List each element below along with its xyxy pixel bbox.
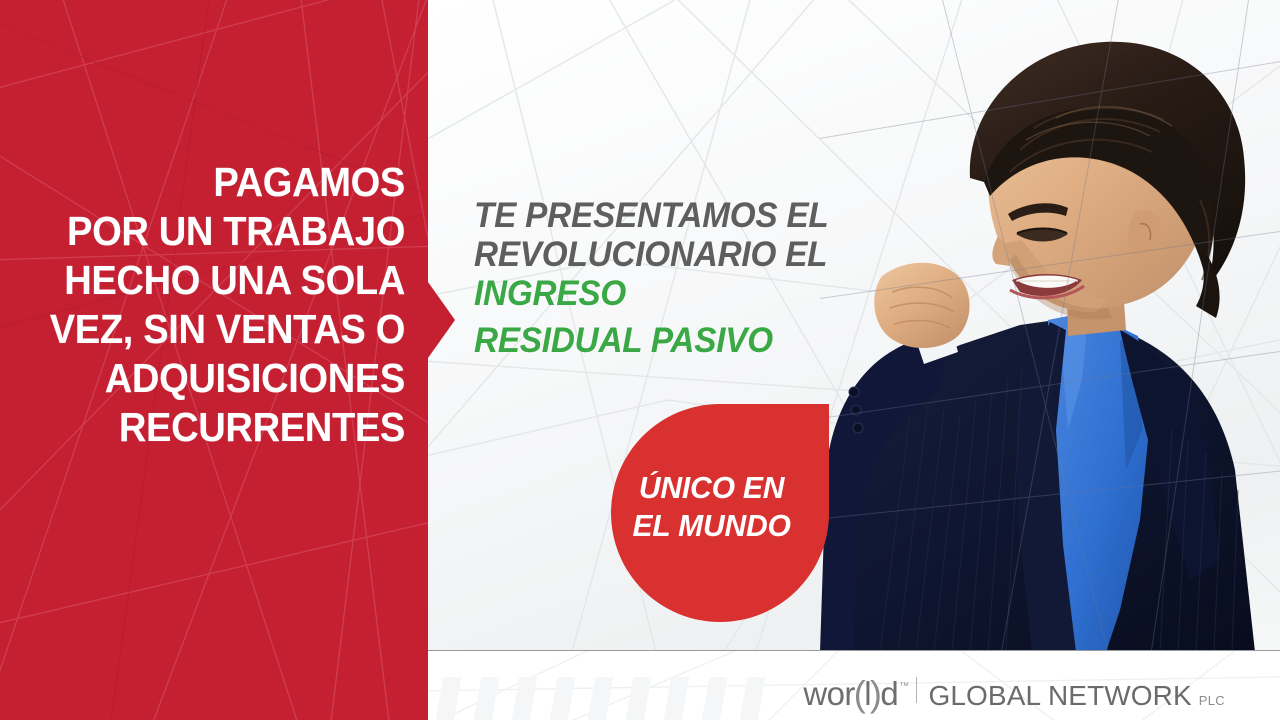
red-headline-panel: PAGAMOS POR UN TRABAJO HECHO UNA SOLA VE… (0, 0, 428, 720)
marketing-slide: PAGAMOS POR UN TRABAJO HECHO UNA SOLA VE… (0, 0, 1280, 720)
subheadline-line-3: INGRESO (474, 274, 873, 313)
subheadline-block: TE PRESENTAMOS EL REVOLUCIONARIO EL INGR… (474, 196, 894, 360)
subheadline-line-1: TE PRESENTAMOS EL (474, 196, 873, 235)
subheadline-spacer (474, 313, 894, 321)
badge-text: ÚNICO EN EL MUNDO (633, 469, 791, 545)
subheadline-line-4: RESIDUAL PASIVO (474, 321, 873, 360)
logo-plc-suffix: PLC (1199, 693, 1225, 708)
trademark-icon: ™ (899, 681, 908, 692)
logo-paren-close: ) (870, 673, 881, 715)
logo-divider (916, 677, 917, 703)
logo-wordmark: wor ( l ) d ™ (803, 672, 907, 714)
unique-in-world-badge: ÚNICO EN EL MUNDO (611, 404, 829, 622)
world-global-network-logo: wor ( l ) d ™ GLOBAL NETWORK PLC (803, 672, 1225, 714)
subheadline-line-2: REVOLUCIONARIO EL (474, 235, 873, 274)
logo-word-last: d (880, 675, 898, 713)
logo-word-first: wor (803, 675, 854, 713)
footer-bar: wor ( l ) d ™ GLOBAL NETWORK PLC (428, 650, 1280, 720)
logo-global-network: GLOBAL NETWORK (928, 680, 1191, 712)
red-headline-text: PAGAMOS POR UN TRABAJO HECHO UNA SOLA VE… (42, 158, 405, 452)
logo-paren-open: ( (854, 673, 865, 715)
red-panel-arrow-icon (428, 282, 455, 358)
